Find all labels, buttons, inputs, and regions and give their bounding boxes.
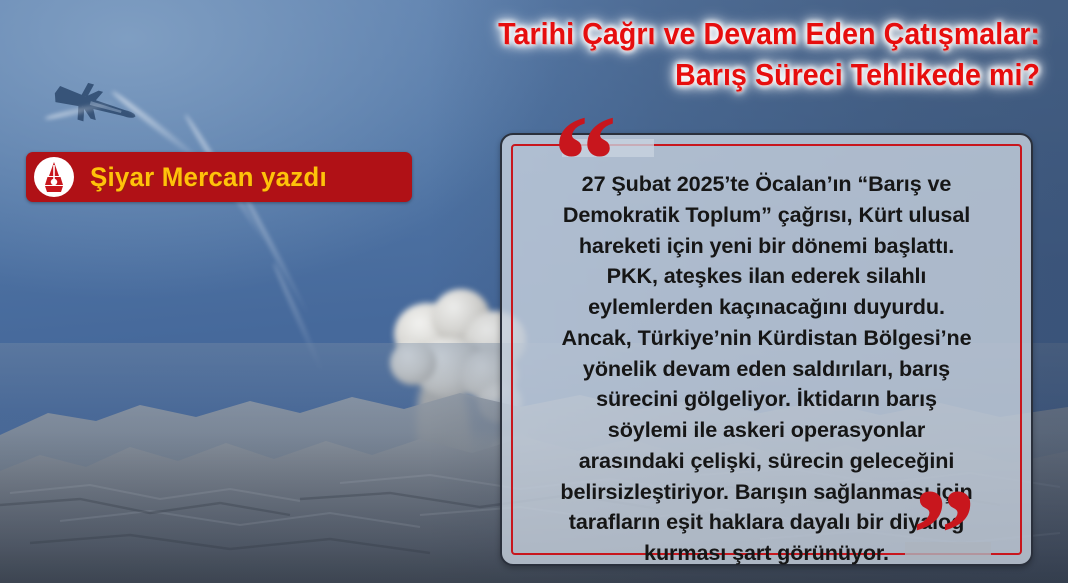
quote-line: hareketi için yeni bir dönemi başlattı.	[528, 231, 1005, 262]
quote-line: söylemi ile askeri operasyonlar	[528, 415, 1005, 446]
author-name-label: Şiyar Mercan yazdı	[90, 162, 327, 193]
quote-line: Ancak, Türkiye’nin Kürdistan Bölgesi’ne	[528, 323, 1005, 354]
poster-canvas: Tarihi Çağrı ve Devam Eden Çatışmalar: B…	[0, 0, 1068, 583]
title-line-2: Barış Süreci Tehlikede mi?	[341, 55, 1040, 96]
quote-line: PKK, ateşkes ilan ederek silahlı	[528, 261, 1005, 292]
quote-line: sürecini gölgeliyor. İktidarın barış	[528, 384, 1005, 415]
page-title: Tarihi Çağrı ve Devam Eden Çatışmalar: B…	[341, 14, 1040, 95]
quote-line: eylemlerden kaçınacağını duyurdu.	[528, 292, 1005, 323]
quote-close-mark: ”	[912, 470, 972, 583]
title-line-1: Tarihi Çağrı ve Devam Eden Çatışmalar:	[341, 14, 1040, 55]
quote-open-mark: “	[553, 96, 613, 224]
quote-line: yönelik devam eden saldırıları, barış	[528, 354, 1005, 385]
pen-nib-icon	[34, 157, 74, 197]
author-badge[interactable]: Şiyar Mercan yazdı	[26, 152, 412, 202]
